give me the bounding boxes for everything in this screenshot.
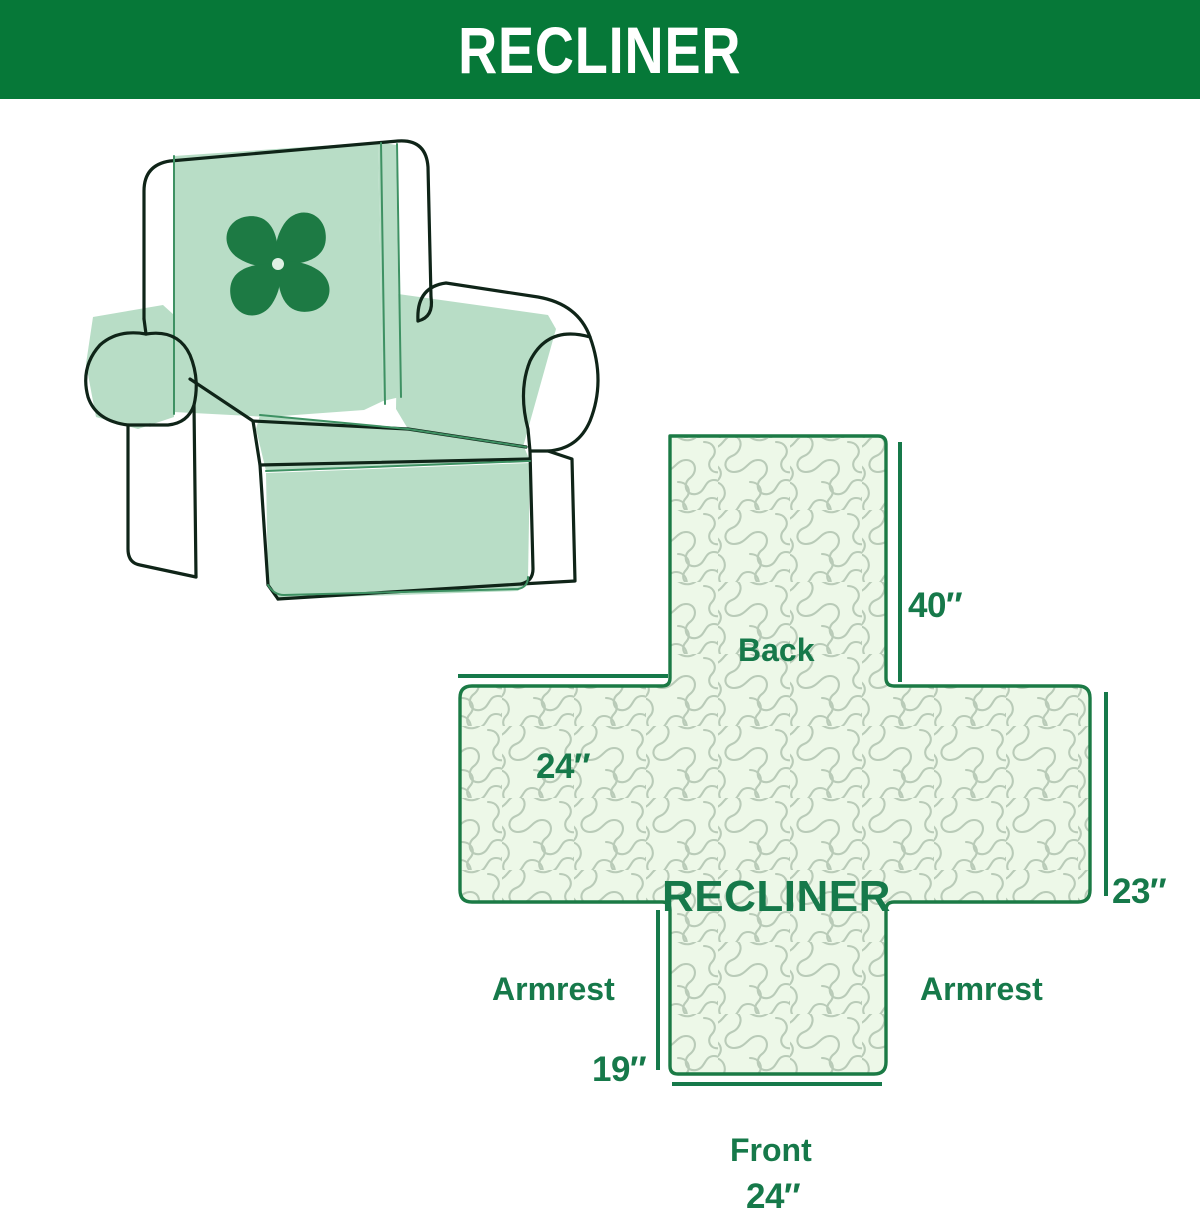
- dimension-label-front-drop: 19″: [592, 1052, 646, 1087]
- dimension-label-seat-depth: 23″: [1112, 874, 1166, 909]
- panel-label-armrest-left: Armrest: [492, 973, 615, 1005]
- page-title: RECLINER: [458, 17, 741, 83]
- pinwheel-hub: [272, 258, 284, 270]
- page-header-banner: RECLINER: [0, 0, 1200, 99]
- cover-pattern-diagram: Back Front Armrest Armrest RECLINER 40″ …: [430, 294, 1170, 1124]
- panel-label-front: Front: [730, 1134, 812, 1166]
- dimension-label-front-width-bottom: 24″: [746, 1179, 800, 1214]
- panel-label-armrest-right: Armrest: [920, 973, 1043, 1005]
- chair-cover-left-arm: [86, 305, 174, 429]
- panel-label-back: Back: [738, 634, 815, 666]
- dimension-label-armrest-width-top: 24″: [536, 749, 590, 784]
- dimension-label-back-height: 40″: [908, 588, 962, 623]
- panel-label-recliner: RECLINER: [662, 875, 891, 919]
- diagram-stage: Back Front Armrest Armrest RECLINER 40″ …: [0, 99, 1200, 1200]
